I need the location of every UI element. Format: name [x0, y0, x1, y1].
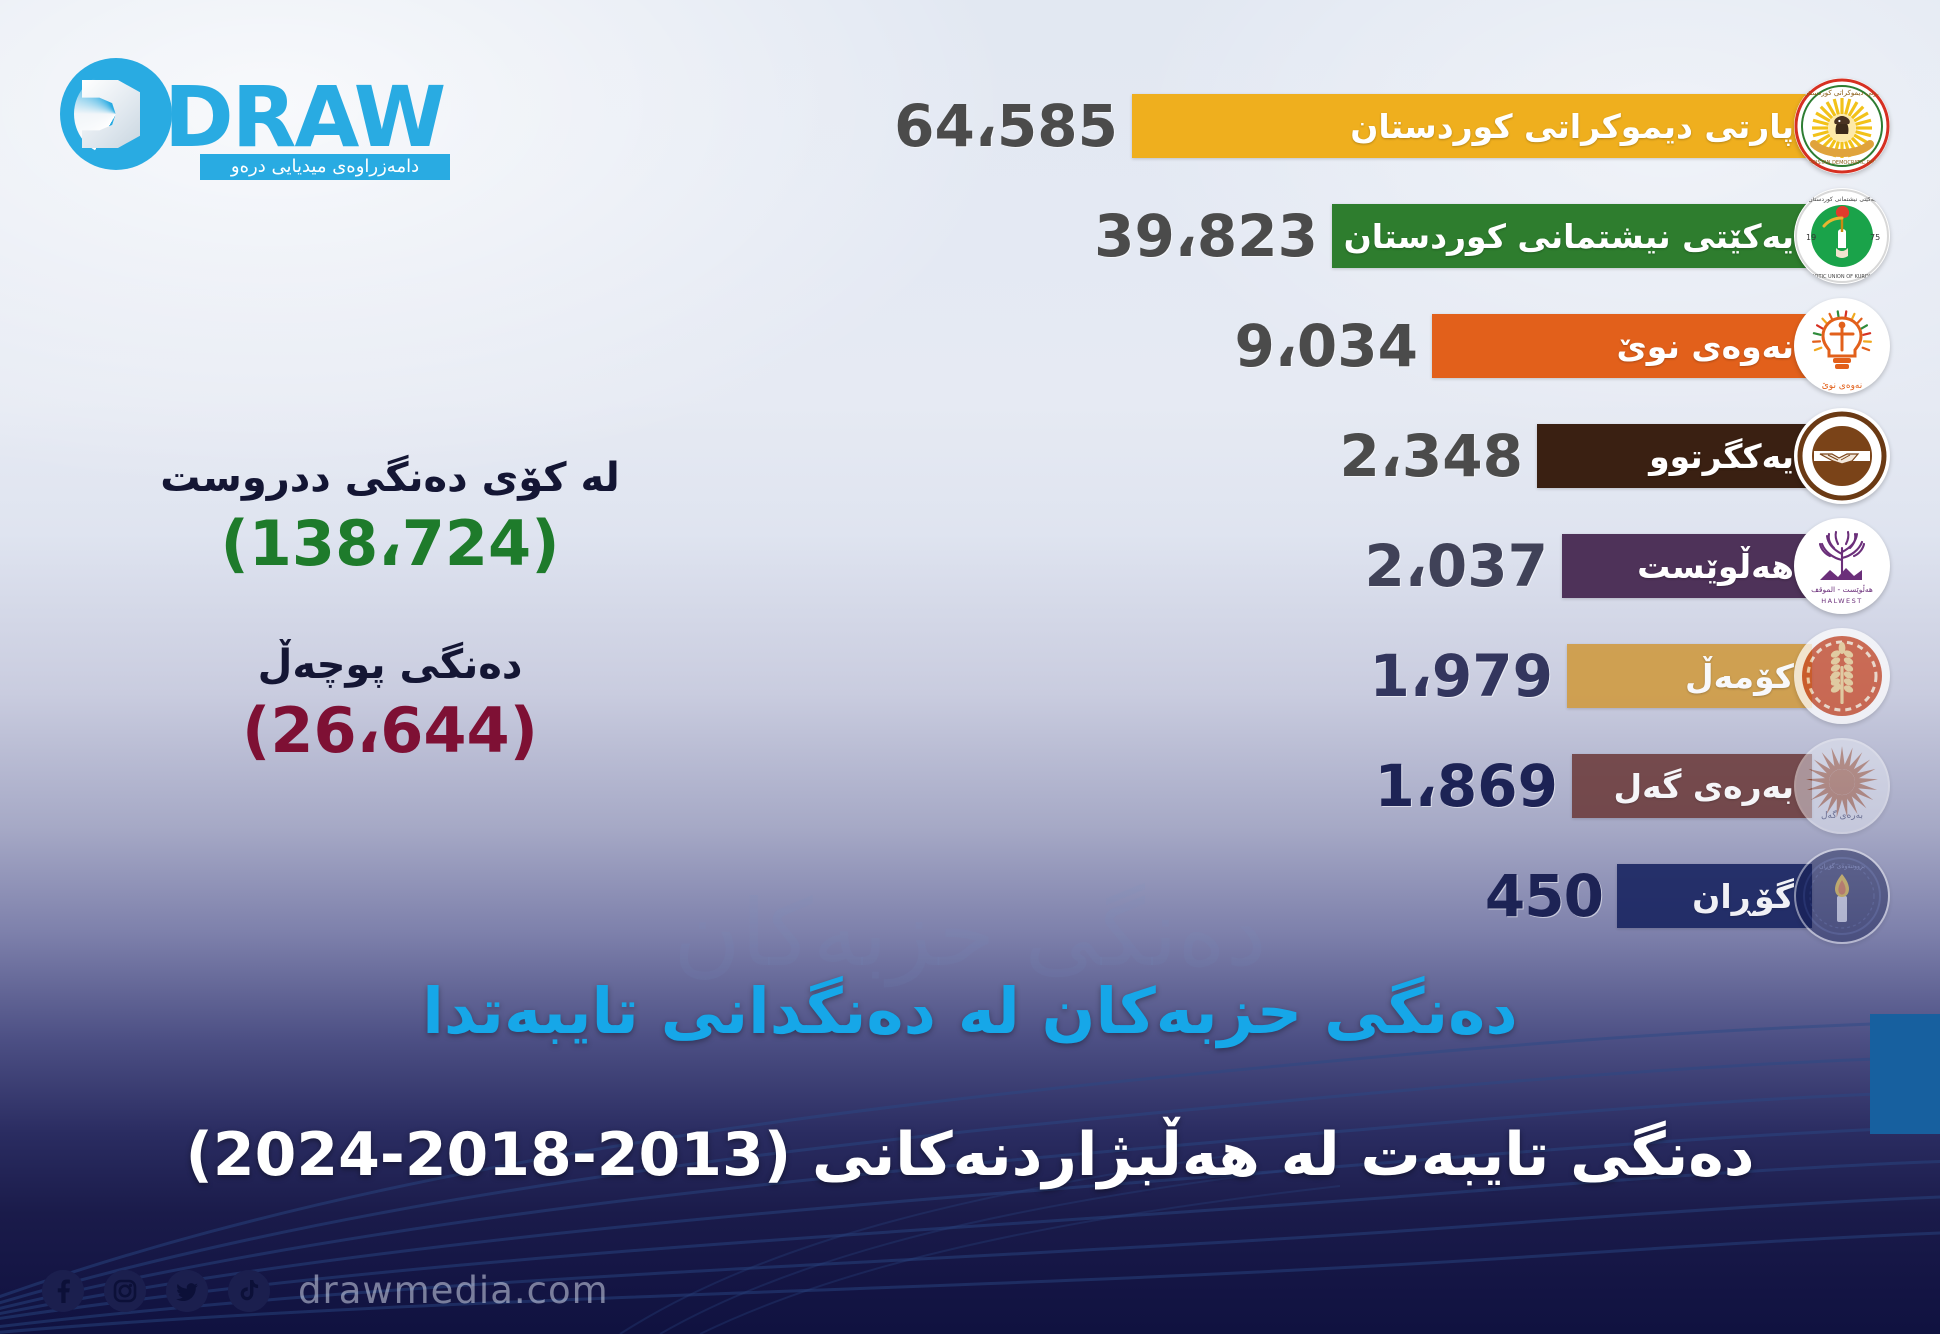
valid-votes-label: لە کۆی دەنگی ددروست	[130, 455, 650, 501]
svg-text:19: 19	[1806, 233, 1816, 242]
svg-text:PATRIOTIC UNION OF KURDISTAN: PATRIOTIC UNION OF KURDISTAN	[1801, 274, 1884, 280]
chart-bar-row: 9،034نەوەی نوێ نەوەی نوێ	[560, 298, 1890, 394]
kdp-emblem: پارتی دیموکراتی کوردستان KURDISTAN DEMOC…	[1794, 78, 1890, 174]
party-name-label: گۆڕان	[1692, 877, 1794, 916]
party-name-label: نەوەی نوێ	[1617, 327, 1794, 366]
headline-title: دەنگی حزبەکان لە دەنگدانی تایبەتدا	[0, 975, 1940, 1048]
chart-bar: یەکگرتوو	[1537, 424, 1812, 488]
valid-votes-value: (138،724)	[130, 507, 650, 580]
svg-text:بزووتنەوەی گۆڕان: بزووتنەوەی گۆڕان	[1819, 862, 1865, 870]
barai-gal-emblem: بەرەی گەل	[1794, 738, 1890, 834]
subheadline-title: دەنگی تایبەت لە هەڵبژاردنەکانی (2013-201…	[0, 1120, 1940, 1190]
svg-text:75: 75	[1870, 233, 1880, 242]
party-name-label: یەکگرتوو	[1649, 437, 1794, 476]
party-name-label: پارتی دیموکراتی کوردستان	[1350, 107, 1794, 146]
chart-bar-row: 2،348یەکگرتوو	[560, 408, 1890, 504]
social-footer: drawmedia.com	[42, 1269, 609, 1312]
invalid-votes-label: دەنگی پوچەڵ	[130, 642, 650, 688]
chart-bar-row: 1،869بەرەی گەل بەرەی گەل	[560, 738, 1890, 834]
infographic-canvas: دەنگی حزبەکان DRAW دامەزراوەی میدیایی در…	[0, 0, 1940, 1334]
corner-accent-block	[1870, 1014, 1940, 1134]
party-name-label: بەرەی گەل	[1614, 767, 1794, 806]
halwest-emblem: هەڵوێست - الموقف HALWEST	[1794, 518, 1890, 614]
svg-text:HALWEST: HALWEST	[1821, 597, 1863, 605]
chart-bar: گۆڕان	[1617, 864, 1812, 928]
chart-bar: نەوەی نوێ	[1432, 314, 1812, 378]
tiktok-icon[interactable]	[228, 1270, 270, 1312]
invalid-votes-value: (26،644)	[130, 694, 650, 767]
chart-bar: هەڵوێست	[1562, 534, 1812, 598]
yakgirtu-emblem	[1794, 408, 1890, 504]
svg-text:یەکێتی نیشتمانی کوردستان: یەکێتی نیشتمانی کوردستان	[1808, 196, 1876, 203]
chart-bar: کۆمەڵ	[1567, 644, 1812, 708]
bar-value-label: 1،869	[1375, 752, 1558, 820]
bar-value-label: 39،823	[1094, 202, 1318, 270]
svg-text:نەوەی نوێ: نەوەی نوێ	[1822, 381, 1863, 391]
bar-value-label: 2،348	[1340, 422, 1523, 490]
website-label: drawmedia.com	[298, 1269, 609, 1312]
chart-bar-row: 64،585پارتی دیموکراتی کوردستان پارتی دیم…	[560, 78, 1890, 174]
party-votes-bar-chart: 64،585پارتی دیموکراتی کوردستان پارتی دیم…	[560, 78, 1890, 958]
svg-text:بەرەی گەل: بەرەی گەل	[1821, 809, 1863, 821]
twitter-icon[interactable]	[166, 1270, 208, 1312]
party-name-label: هەڵوێست	[1637, 547, 1794, 586]
chart-bar-row: 2،037هەڵوێست هەڵوێست - الموق	[560, 518, 1890, 614]
logo-wordmark: DRAW	[164, 68, 444, 166]
chart-bar: بەرەی گەل	[1572, 754, 1812, 818]
instagram-icon[interactable]	[104, 1270, 146, 1312]
komal-emblem	[1794, 628, 1890, 724]
facebook-icon[interactable]	[42, 1270, 84, 1312]
puk-emblem: 19 75 یەکێتی نیشتمانی کوردستان PATRIOTIC…	[1794, 188, 1890, 284]
votes-summary: لە کۆی دەنگی ددروست (138،724) دەنگی پوچە…	[130, 455, 650, 767]
logo-circle-icon	[60, 58, 172, 170]
chart-bar-row: 39،823یەکێتی نیشتمانی کوردستان 19 75 یەک…	[560, 188, 1890, 284]
bar-value-label: 450	[1485, 862, 1603, 930]
svg-text:پارتی دیموکراتی کوردستان: پارتی دیموکراتی کوردستان	[1803, 89, 1881, 97]
bar-value-label: 1،979	[1370, 642, 1553, 710]
new-generation-emblem: نەوەی نوێ	[1794, 298, 1890, 394]
chart-bar-row: 1،979کۆمەڵ	[560, 628, 1890, 724]
chart-bar-row: 450گۆڕان بزووتنەوەی گۆڕان	[560, 848, 1890, 944]
logo-tagline: دامەزراوەی میدیایی درەو	[200, 154, 450, 180]
party-name-label: یەکێتی نیشتمانی کوردستان	[1344, 217, 1794, 256]
chart-bar: پارتی دیموکراتی کوردستان	[1132, 94, 1812, 158]
party-name-label: کۆمەڵ	[1685, 657, 1794, 696]
chart-bar: یەکێتی نیشتمانی کوردستان	[1332, 204, 1812, 268]
draw-media-logo: DRAW دامەزراوەی میدیایی درەو	[60, 50, 450, 175]
bar-value-label: 64،585	[894, 92, 1118, 160]
gorran-emblem: بزووتنەوەی گۆڕان	[1794, 848, 1890, 944]
bar-value-label: 9،034	[1235, 312, 1418, 380]
svg-text:هەڵوێست - الموقف: هەڵوێست - الموقف	[1811, 584, 1873, 594]
bar-value-label: 2،037	[1365, 532, 1548, 600]
svg-text:KURDISTAN DEMOCRATIC PARTY: KURDISTAN DEMOCRATIC PARTY	[1802, 160, 1883, 166]
